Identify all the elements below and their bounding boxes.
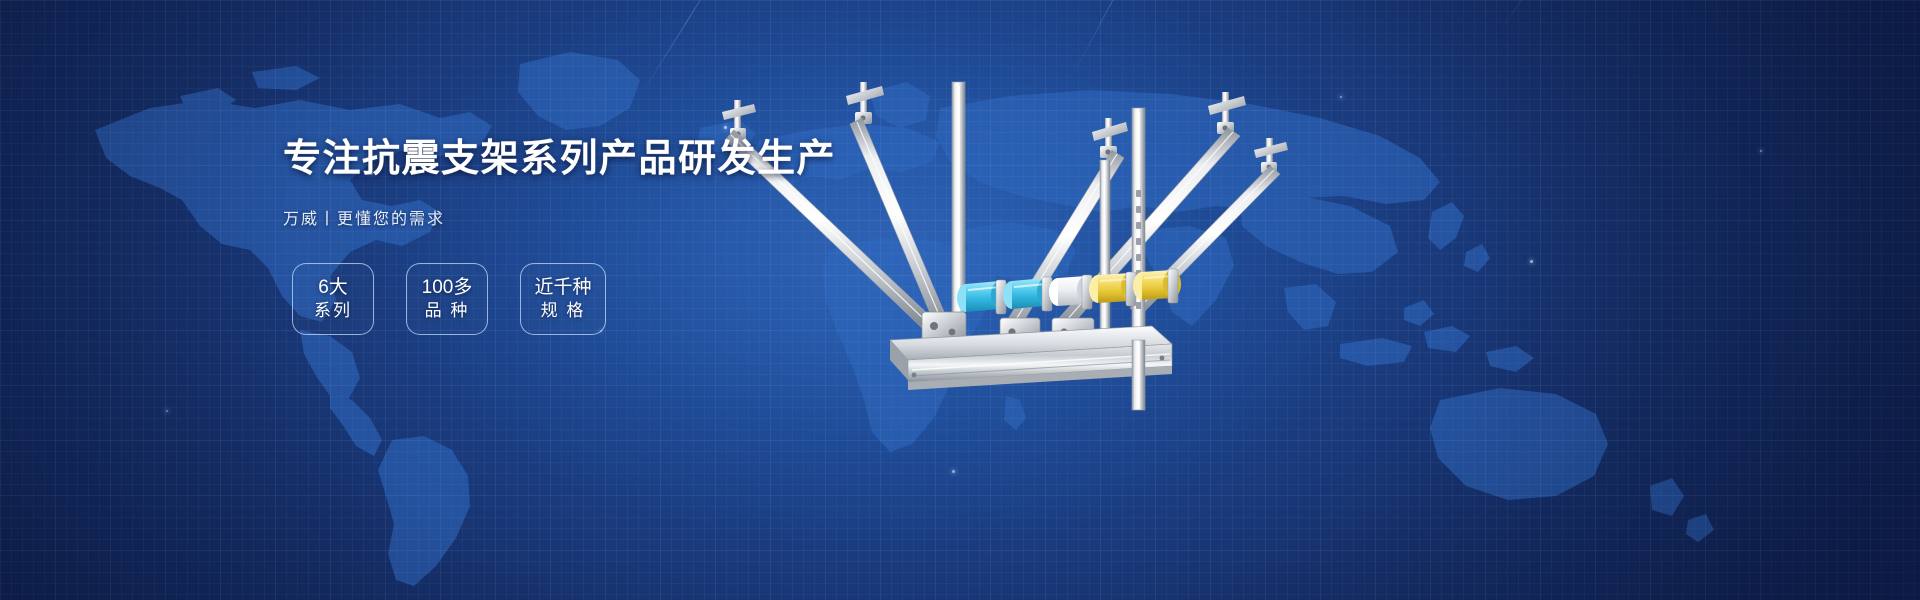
- pipe-clamp-5: [1168, 269, 1178, 303]
- anchor-head-left: [722, 100, 756, 140]
- badge-line-1: 近千种: [534, 276, 591, 300]
- badge-line-1: 100多: [422, 276, 473, 300]
- anchor-head-right-a: [1092, 118, 1128, 158]
- badge-line-2: 规 格: [541, 300, 586, 322]
- badge-line-2: 系列: [314, 300, 352, 322]
- hero-banner: 专注抗震支架系列产品研发生产 万威丨更懂您的需求 6大 系列 100多 品 种 …: [0, 0, 1920, 600]
- hero-subtitle: 万威丨更懂您的需求: [283, 205, 843, 229]
- feature-badges: 6大 系列 100多 品 种 近千种 规 格: [292, 263, 606, 335]
- anchor-head-mid: [846, 82, 884, 124]
- badge-specifications[interactable]: 近千种 规 格: [520, 263, 606, 335]
- anchor-head-right-b: [1208, 92, 1246, 134]
- page-title: 专注抗震支架系列产品研发生产: [283, 140, 843, 180]
- hero-copy: 专注抗震支架系列产品研发生产 万威丨更懂您的需求: [283, 140, 843, 229]
- star-dot: [166, 410, 168, 412]
- star-dot: [1760, 150, 1762, 152]
- product-image-seismic-bracing: [700, 40, 1340, 440]
- rail-end-post: [1132, 340, 1145, 410]
- badge-series[interactable]: 6大 系列: [292, 263, 374, 335]
- star-dot: [1530, 260, 1533, 263]
- star-dot: [952, 470, 955, 473]
- badge-line-1: 6大: [318, 276, 348, 300]
- star-dot: [1340, 96, 1342, 98]
- vertical-hanger-mid: [1100, 160, 1110, 340]
- badge-line-2: 品 种: [425, 300, 470, 322]
- badge-varieties[interactable]: 100多 品 种: [406, 263, 488, 335]
